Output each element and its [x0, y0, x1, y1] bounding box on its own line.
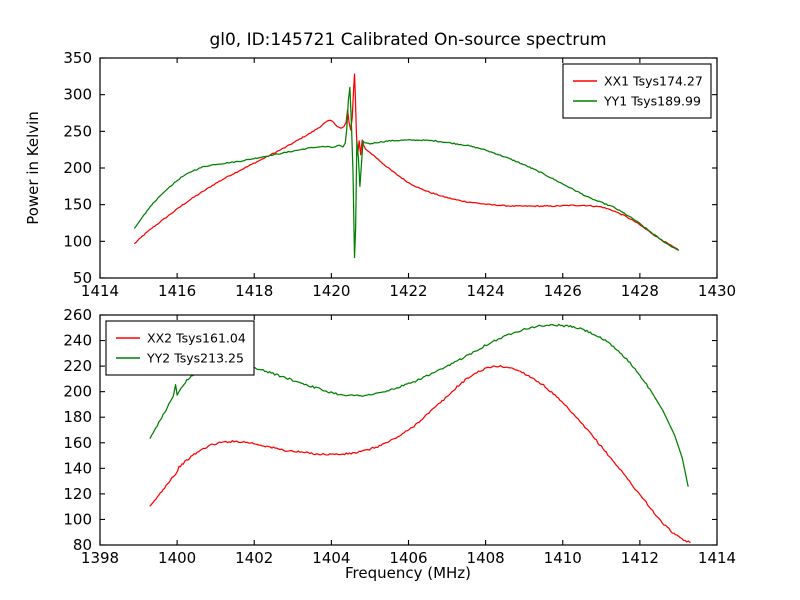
top-y-axis-label: Power in Kelvin — [24, 111, 42, 225]
x-tick-label: 1422 — [389, 282, 427, 300]
x-tick-label: 1412 — [621, 549, 659, 567]
y-tick-label: 200 — [63, 159, 92, 177]
y-tick-label: 260 — [63, 306, 92, 324]
x-tick-label: 1402 — [235, 549, 273, 567]
x-tick-label: 1414 — [698, 549, 736, 567]
x-tick-label: 1416 — [158, 282, 196, 300]
y-tick-label: 300 — [63, 86, 92, 104]
top-legend: XX1 Tsys174.27YY1 Tsys189.99 — [563, 64, 711, 118]
x-tick-label: 1410 — [544, 549, 582, 567]
legend-label: XX2 Tsys161.04 — [147, 331, 246, 346]
x-tick-label: 1408 — [467, 549, 505, 567]
x-tick-label: 1428 — [621, 282, 659, 300]
y-tick-label: 220 — [63, 357, 92, 375]
x-tick-label: 1418 — [235, 282, 273, 300]
bottom-x-axis-label: Frequency (MHz) — [345, 564, 471, 582]
y-tick-label: 120 — [63, 485, 92, 503]
legend-label: YY1 Tsys189.99 — [603, 94, 701, 109]
legend-frame — [106, 321, 254, 375]
y-tick-label: 180 — [63, 408, 92, 426]
page-title: gl0, ID:145721 Calibrated On-source spec… — [209, 30, 606, 50]
series-line-xx2 — [150, 366, 690, 543]
y-tick-label: 80 — [73, 536, 92, 554]
y-tick-label: 160 — [63, 434, 92, 452]
y-tick-label: 250 — [63, 122, 92, 140]
x-tick-label: 1424 — [467, 282, 505, 300]
y-tick-label: 140 — [63, 459, 92, 477]
y-tick-label: 200 — [63, 383, 92, 401]
x-tick-label: 1420 — [312, 282, 350, 300]
x-tick-label: 1400 — [158, 549, 196, 567]
figure-canvas: gl0, ID:145721 Calibrated On-source spec… — [0, 0, 800, 600]
top-panel: gl0, ID:145721 Calibrated On-source spec… — [24, 30, 736, 300]
bottom-legend: XX2 Tsys161.04YY2 Tsys213.25 — [106, 321, 254, 375]
y-tick-label: 350 — [63, 49, 92, 67]
legend-label: YY2 Tsys213.25 — [146, 351, 244, 366]
x-tick-label: 1430 — [698, 282, 736, 300]
bottom-panel: 1398140014021404140614081410141214148010… — [63, 306, 736, 582]
legend-frame — [563, 64, 711, 118]
y-tick-label: 100 — [63, 510, 92, 528]
y-tick-label: 100 — [63, 232, 92, 250]
y-tick-label: 150 — [63, 196, 92, 214]
y-tick-label: 240 — [63, 332, 92, 350]
matplotlib-figure: gl0, ID:145721 Calibrated On-source spec… — [0, 0, 800, 600]
y-tick-label: 50 — [73, 269, 92, 287]
legend-label: XX1 Tsys174.27 — [604, 74, 703, 89]
x-tick-label: 1426 — [544, 282, 582, 300]
